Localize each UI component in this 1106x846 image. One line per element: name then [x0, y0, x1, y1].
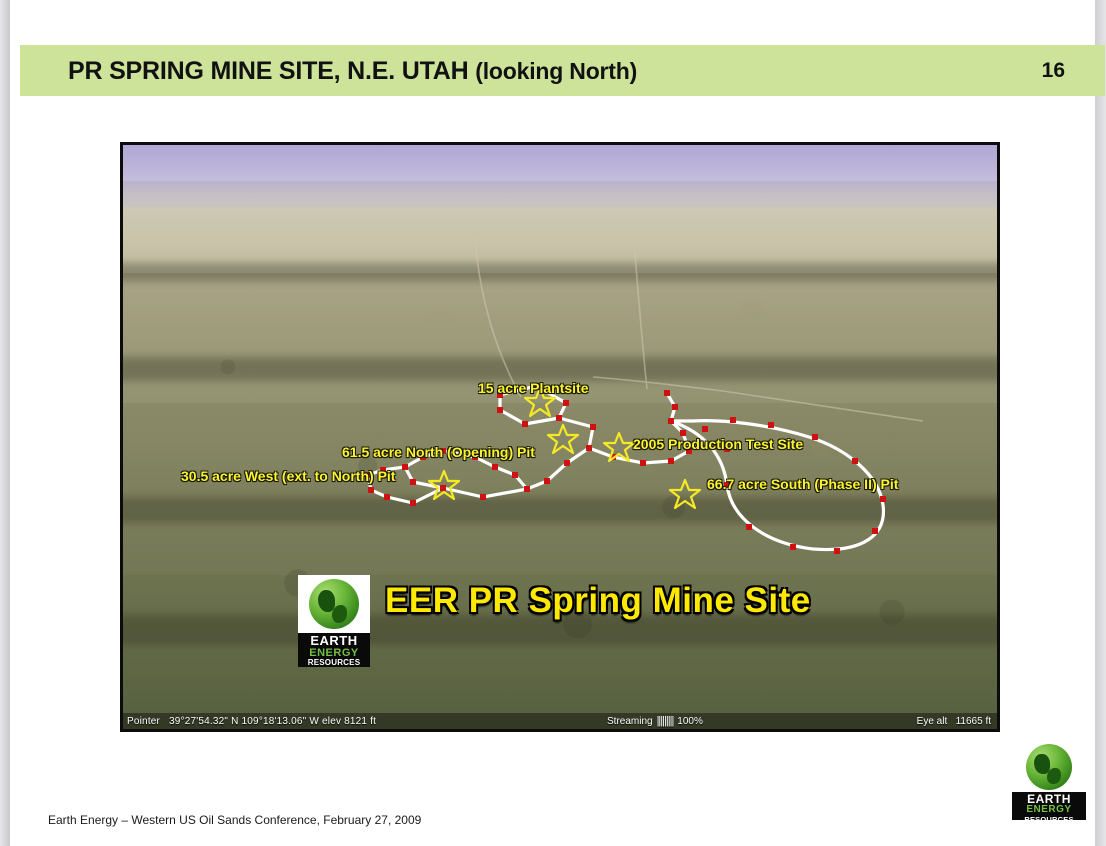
status-eyealt-label: Eye alt	[917, 716, 948, 727]
status-streaming-label: Streaming	[607, 716, 653, 727]
slide-footer: Earth Energy – Western US Oil Sands Conf…	[48, 813, 421, 827]
status-streaming-bars: |||||||||	[657, 715, 674, 727]
status-eyealt-value: 11665 ft	[956, 716, 991, 727]
slide-title-banner: PR SPRING MINE SITE, N.E. UTAH (looking …	[20, 45, 1105, 96]
south-pit-star	[670, 480, 700, 508]
google-earth-map[interactable]: 15 acre Plantsite 61.5 acre North (Openi…	[120, 142, 1000, 732]
status-eye-altitude: Eye alt 11665 ft	[917, 716, 991, 727]
map-label-south-pit: 66.7 acre South (Phase II) Pit	[707, 476, 898, 492]
vertex-markers	[365, 383, 886, 554]
map-label-west-pit: 30.5 acre West (ext. to North) Pit	[181, 468, 395, 484]
north-pit-star	[548, 425, 578, 453]
map-title-overlay: EER PR Spring Mine Site	[385, 581, 811, 621]
globe-icon-corner	[1026, 744, 1072, 790]
page-right-margin	[1095, 0, 1106, 846]
status-pointer: Pointer 39°27'54.32" N 109°18'13.06" W e…	[127, 716, 376, 727]
map-label-test-site: 2005 Production Test Site	[633, 436, 803, 452]
slide-canvas: PR SPRING MINE SITE, N.E. UTAH (looking …	[10, 0, 1095, 846]
page-left-margin	[0, 0, 10, 846]
page-title: PR SPRING MINE SITE, N.E. UTAH (looking …	[68, 57, 637, 86]
page-title-sub: (looking North)	[475, 58, 637, 84]
status-streaming: Streaming ||||||||| 100%	[607, 715, 703, 727]
slide-number: 16	[1042, 59, 1065, 83]
kml-overlay	[123, 145, 997, 729]
eer-logo-corner: EARTH ENERGY RESOURCES	[1012, 742, 1086, 820]
corner-logo-line-resources: RESOURCES	[1012, 816, 1086, 820]
status-pointer-label: Pointer	[127, 716, 160, 727]
status-streaming-value: 100%	[677, 716, 703, 727]
map-status-bar: Pointer 39°27'54.32" N 109°18'13.06" W e…	[123, 713, 997, 729]
test-site-boundary	[589, 393, 689, 463]
page-title-main: PR SPRING MINE SITE, N.E. UTAH	[68, 57, 469, 85]
status-pointer-value: 39°27'54.32" N 109°18'13.06" W elev 8121…	[169, 716, 376, 727]
globe-icon	[309, 579, 359, 629]
map-label-plantsite: 15 acre Plantsite	[478, 380, 589, 396]
eer-logo-map: EARTH ENERGY RESOURCES	[298, 575, 370, 667]
logo-line-earth: EARTH	[298, 634, 370, 648]
logo-line-resources: RESOURCES	[298, 659, 370, 667]
map-label-north-pit: 61.5 acre North (Opening) Pit	[342, 444, 535, 460]
